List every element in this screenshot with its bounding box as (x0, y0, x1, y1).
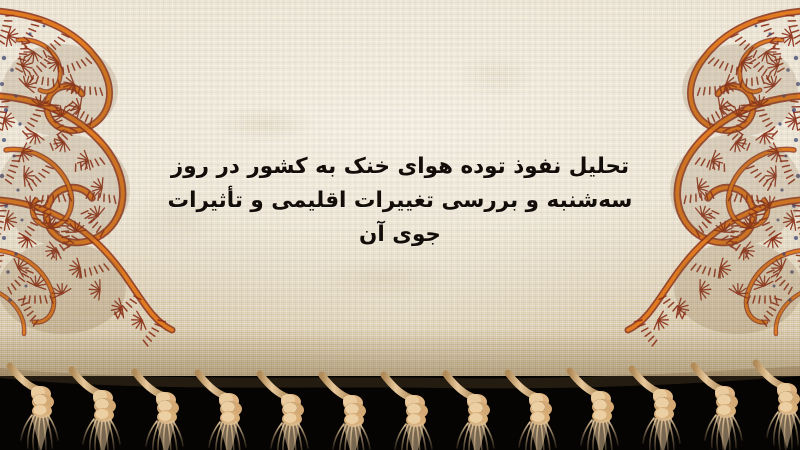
textile-banner-image: تحلیل نفوذ توده هوای خنک به کشور در روز … (0, 0, 800, 450)
tassel-fringe (0, 340, 800, 450)
page-title: تحلیل نفوذ توده هوای خنک به کشور در روز … (150, 150, 650, 252)
